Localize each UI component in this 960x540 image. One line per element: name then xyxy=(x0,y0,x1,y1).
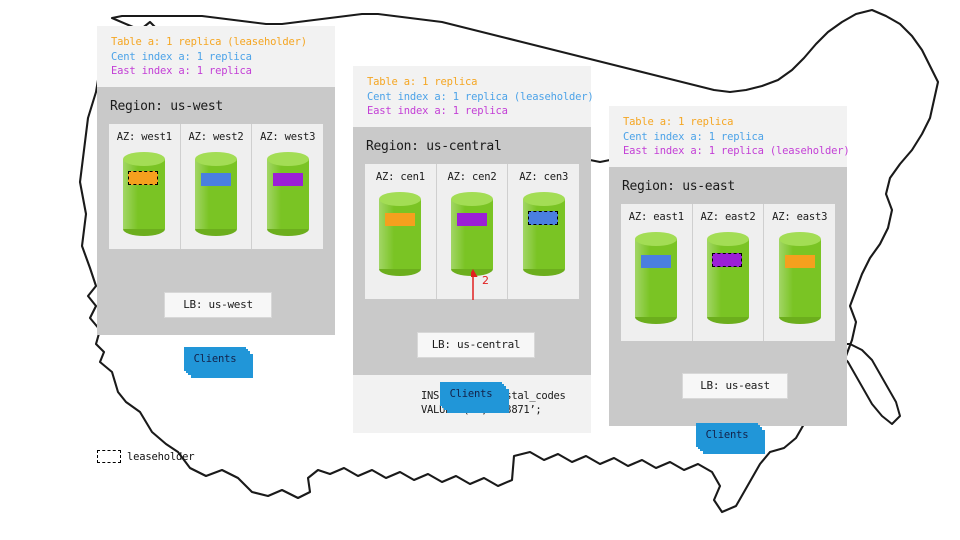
az-west2[interactable]: AZ: west2 xyxy=(181,124,253,249)
replica-line-table: Table a: 1 replica (leaseholder) xyxy=(111,35,323,50)
clients-label: Clients xyxy=(184,347,246,371)
replica-band-table xyxy=(385,213,415,226)
region-cluster-us-central: Table a: 1 replica Cent index a: 1 repli… xyxy=(353,66,591,433)
replica-band-cent-index xyxy=(201,173,231,186)
replica-band-table-leaseholder xyxy=(128,171,158,185)
replica-summary-us-central: Table a: 1 replica Cent index a: 1 repli… xyxy=(353,66,591,127)
cylinder-body xyxy=(779,239,821,317)
region-panel-us-west: Region: us-west AZ: west1 AZ: west2 xyxy=(97,87,335,335)
az-strip-us-east: AZ: east1 AZ: east2 xyxy=(621,204,835,341)
az-west1[interactable]: AZ: west1 xyxy=(109,124,181,249)
cylinder-top xyxy=(707,232,749,246)
node-cylinder[interactable] xyxy=(523,192,565,276)
clients-stack-us-east[interactable]: Clients xyxy=(696,423,758,447)
clients-stack-us-central[interactable]: Clients xyxy=(440,382,502,406)
dashed-rect-icon xyxy=(97,450,121,463)
load-balancer-us-east[interactable]: LB: us-east xyxy=(682,373,788,399)
cylinder-top xyxy=(523,192,565,206)
az-east2[interactable]: AZ: east2 xyxy=(693,204,765,341)
az-label: AZ: cen3 xyxy=(508,171,579,183)
az-strip-us-west: AZ: west1 AZ: west2 xyxy=(109,124,323,249)
load-balancer-us-west[interactable]: LB: us-west xyxy=(164,292,272,318)
node-cylinder[interactable] xyxy=(379,192,421,276)
node-cylinder[interactable] xyxy=(123,152,165,236)
az-label: AZ: east2 xyxy=(693,211,764,223)
az-cen1[interactable]: AZ: cen1 xyxy=(365,164,437,299)
az-cen3[interactable]: AZ: cen3 xyxy=(508,164,579,299)
cylinder-top xyxy=(123,152,165,166)
az-west3[interactable]: AZ: west3 xyxy=(252,124,323,249)
az-east1[interactable]: AZ: east1 xyxy=(621,204,693,341)
replica-line-east-index: East index a: 1 replica (leaseholder) xyxy=(623,144,835,159)
region-title: Region: us-west xyxy=(97,87,335,124)
cylinder-top xyxy=(267,152,309,166)
az-label: AZ: east3 xyxy=(764,211,835,223)
replica-line-table: Table a: 1 replica xyxy=(623,115,835,130)
cylinder-body xyxy=(123,159,165,229)
replica-band-east-index-leaseholder xyxy=(712,253,742,267)
az-label: AZ: west3 xyxy=(252,131,323,143)
legend: leaseholder xyxy=(97,450,194,463)
replica-line-cent-index: Cent index a: 1 replica xyxy=(623,130,835,145)
cylinder-top xyxy=(635,232,677,246)
cylinder-body xyxy=(379,199,421,269)
arrow-step-number: 2 xyxy=(482,274,489,287)
cylinder-body xyxy=(195,159,237,229)
region-cluster-us-east: Table a: 1 replica Cent index a: 1 repli… xyxy=(609,106,847,426)
replica-line-table: Table a: 1 replica xyxy=(367,75,579,90)
diagram-canvas: Table a: 1 replica (leaseholder) Cent in… xyxy=(0,0,960,540)
replica-band-cent-index xyxy=(641,255,671,268)
replica-line-east-index: East index a: 1 replica xyxy=(111,64,323,79)
az-label: AZ: cen1 xyxy=(365,171,436,183)
cylinder-top xyxy=(779,232,821,246)
region-panel-us-east: Region: us-east AZ: east1 AZ: east2 xyxy=(609,167,847,426)
cylinder-top xyxy=(451,192,493,206)
az-cen2[interactable]: AZ: cen2 2 xyxy=(437,164,509,299)
cylinder-body xyxy=(523,199,565,269)
az-strip-us-central: AZ: cen1 AZ: cen2 xyxy=(365,164,579,299)
replica-band-east-index xyxy=(457,213,487,226)
replica-line-cent-index: Cent index a: 1 replica (leaseholder) xyxy=(367,90,579,105)
replica-summary-us-west: Table a: 1 replica (leaseholder) Cent in… xyxy=(97,26,335,87)
replica-line-cent-index: Cent index a: 1 replica xyxy=(111,50,323,65)
az-label: AZ: east1 xyxy=(621,211,692,223)
node-cylinder[interactable] xyxy=(707,232,749,324)
clients-label: Clients xyxy=(440,382,502,406)
node-cylinder[interactable] xyxy=(779,232,821,324)
legend-label: leaseholder xyxy=(127,451,194,463)
replica-summary-us-east: Table a: 1 replica Cent index a: 1 repli… xyxy=(609,106,847,167)
az-label: AZ: west2 xyxy=(181,131,252,143)
replica-band-cent-index-leaseholder xyxy=(528,211,558,225)
node-cylinder[interactable] xyxy=(195,152,237,236)
az-label: AZ: west1 xyxy=(109,131,180,143)
node-cylinder[interactable] xyxy=(267,152,309,236)
region-title: Region: us-central xyxy=(353,127,591,164)
clients-label: Clients xyxy=(696,423,758,447)
clients-stack-us-west[interactable]: Clients xyxy=(184,347,246,371)
cylinder-top xyxy=(379,192,421,206)
node-cylinder[interactable] xyxy=(635,232,677,324)
cylinder-top xyxy=(195,152,237,166)
region-title: Region: us-east xyxy=(609,167,847,204)
az-east3[interactable]: AZ: east3 xyxy=(764,204,835,341)
cylinder-body xyxy=(267,159,309,229)
region-cluster-us-west: Table a: 1 replica (leaseholder) Cent in… xyxy=(97,26,335,335)
region-panel-us-central: Region: us-central AZ: cen1 AZ: cen2 xyxy=(353,127,591,375)
az-label: AZ: cen2 xyxy=(437,171,508,183)
load-balancer-us-central[interactable]: LB: us-central xyxy=(417,332,535,358)
write-arrow-to-cen2: 2 xyxy=(471,268,511,302)
replica-line-east-index: East index a: 1 replica xyxy=(367,104,579,119)
cylinder-body xyxy=(635,239,677,317)
arrow-icon xyxy=(471,268,511,302)
cylinder-body xyxy=(707,239,749,317)
node-cylinder[interactable] xyxy=(451,192,493,276)
replica-band-table xyxy=(785,255,815,268)
replica-band-east-index xyxy=(273,173,303,186)
cylinder-body xyxy=(451,199,493,269)
